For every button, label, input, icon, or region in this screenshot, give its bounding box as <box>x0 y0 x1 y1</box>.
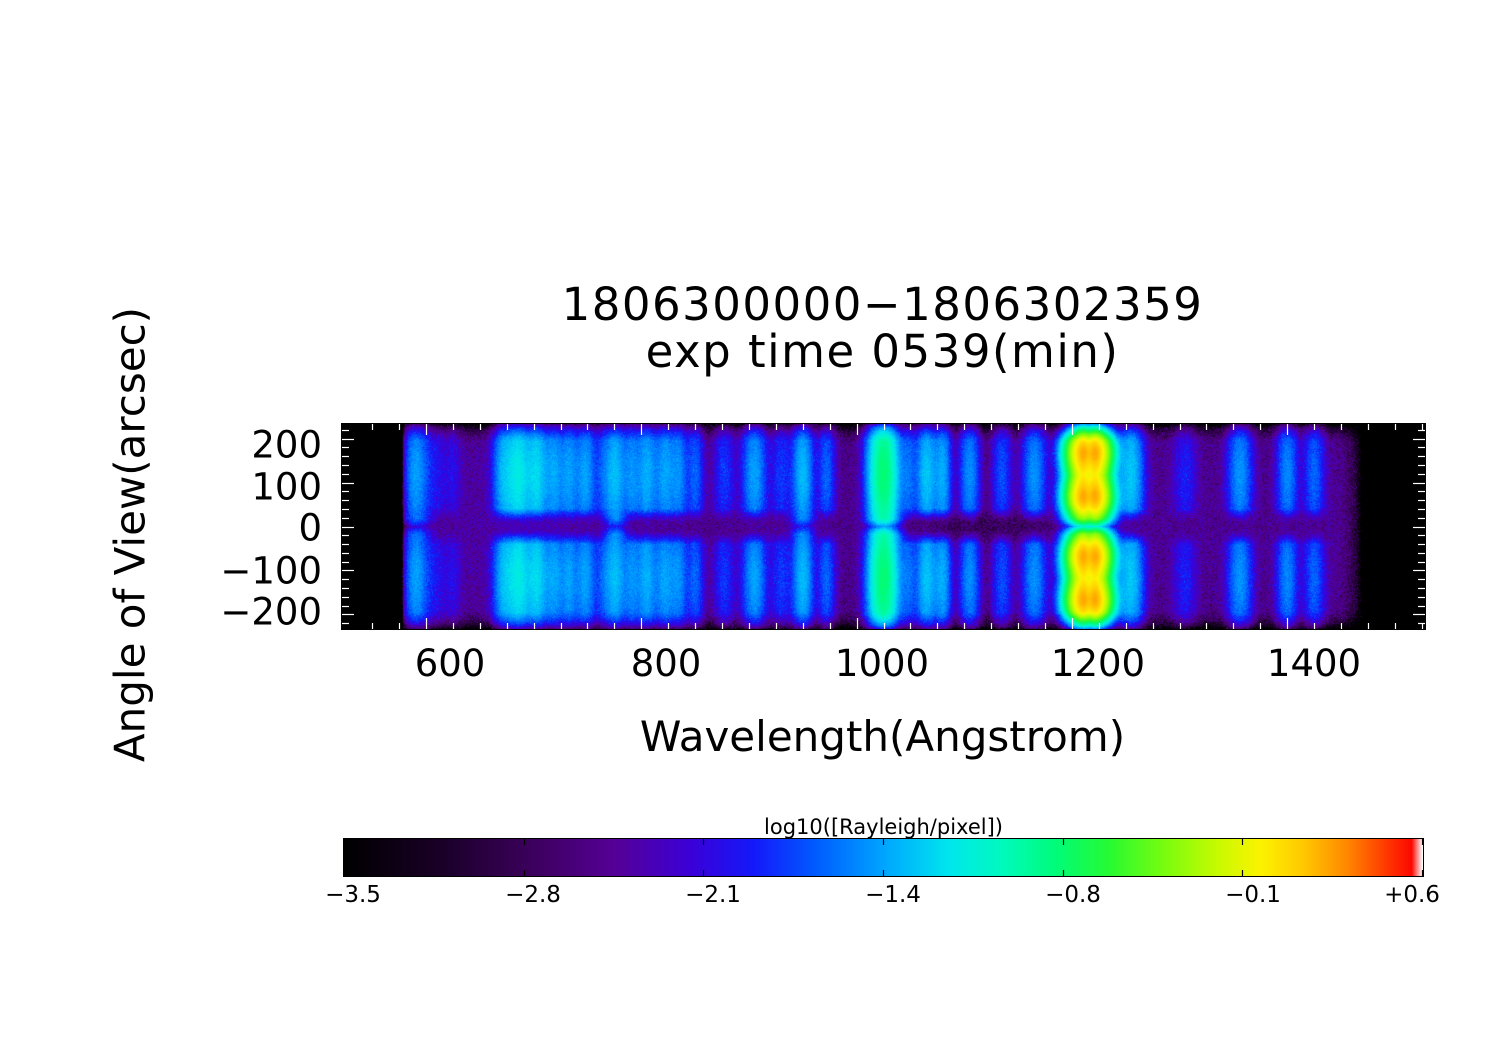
cb-tick-label-0: −3.5 <box>325 884 381 907</box>
title-line-obsid: 1806300000−1806302359 <box>341 282 1424 329</box>
y-axis-title: Angle of View(arcsec) <box>106 275 155 795</box>
x-tick-label-2: 1000 <box>835 645 929 682</box>
title-line-exptime: exp time 0539(min) <box>341 329 1424 376</box>
y-tick-label-3: −100 <box>220 553 322 590</box>
x-tick-label-3: 1200 <box>1051 645 1145 682</box>
x-tick-label-0: 600 <box>415 645 486 682</box>
y-tick-label-2: 0 <box>298 510 322 547</box>
x-tick-label-1: 800 <box>631 645 702 682</box>
plot-title: 1806300000−1806302359 exp time 0539(min) <box>341 282 1424 376</box>
y-tick-label-1: 100 <box>251 469 322 506</box>
cb-tick-label-3: −1.4 <box>865 884 921 907</box>
cb-tick-label-6: +0.6 <box>1384 884 1440 907</box>
colorbar[interactable] <box>343 838 1424 877</box>
cb-tick-label-5: −0.1 <box>1225 884 1281 907</box>
colorbar-title: log10([Rayleigh/pixel]) <box>343 815 1424 839</box>
cb-tick-label-2: −2.1 <box>685 884 741 907</box>
figure-root: 1806300000−1806302359 exp time 0539(min)… <box>0 0 1497 1058</box>
y-tick-labels: 200 100 0 −100 −200 <box>180 423 332 628</box>
y-tick-label-4: −200 <box>220 594 322 631</box>
x-tick-labels: 600 800 1000 1200 1400 <box>341 645 1424 695</box>
x-tick-label-4: 1400 <box>1267 645 1361 682</box>
colorbar-tick-labels: −3.5 −2.8 −2.1 −1.4 −0.8 −0.1 +0.6 <box>343 884 1424 918</box>
cb-tick-label-4: −0.8 <box>1045 884 1101 907</box>
colorbar-gradient <box>344 839 1423 876</box>
y-tick-label-0: 200 <box>251 427 322 464</box>
spectrum-heatmap <box>342 424 1425 629</box>
x-axis-title: Wavelength(Angstrom) <box>341 712 1424 761</box>
cb-tick-label-1: −2.8 <box>505 884 561 907</box>
spectrum-plot-area[interactable] <box>341 423 1426 630</box>
